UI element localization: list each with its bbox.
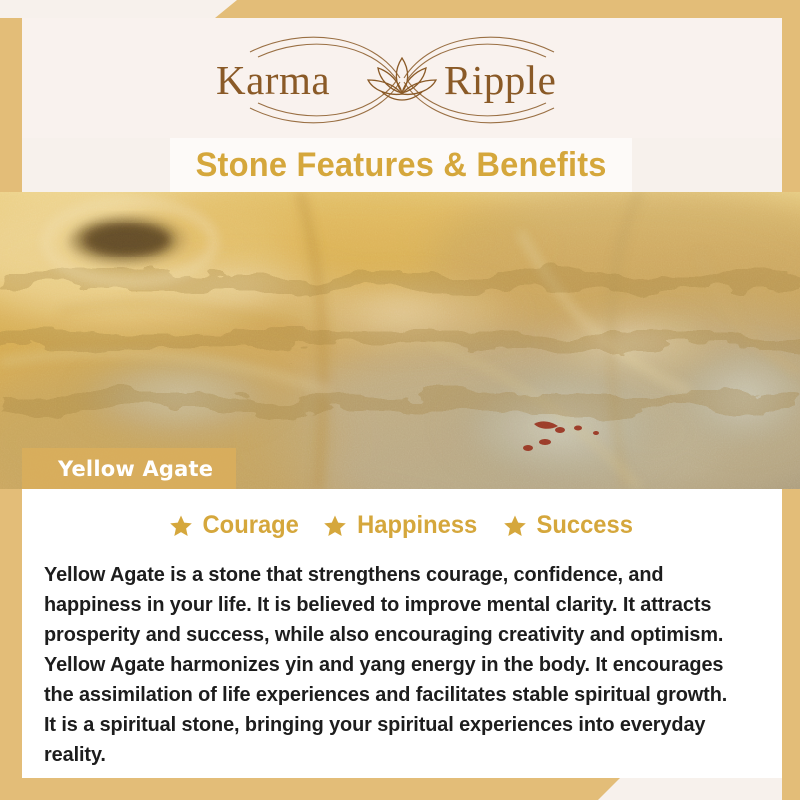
benefit-item: Happiness [323,511,480,540]
stone-photo: Yellow Agate [0,192,800,489]
stone-photo-texture [0,192,800,489]
star-icon [503,514,527,538]
content-panel: Courage Happiness Success Yellow Agate i… [22,489,782,778]
header: Karma Ripple [22,18,782,138]
frame-band-bottom [0,778,620,800]
benefit-item: Success [503,511,635,540]
stone-description: Yellow Agate is a stone that strengthens… [44,560,739,770]
product-infographic: Karma Ripple Stone Features & Benefits [0,0,800,800]
frame-band-top [215,0,800,18]
brand-logo-artwork: Karma Ripple [192,30,612,130]
brand-name-left: Karma [216,57,330,103]
title-card: Stone Features & Benefits [170,138,632,192]
lotus-icon [368,58,436,100]
stone-name-badge: Yellow Agate [22,448,236,489]
benefits-row: Courage Happiness Success [22,511,782,540]
brand-logo: Karma Ripple [192,30,612,130]
benefit-label: Happiness [357,511,477,540]
brand-name-right: Ripple [444,57,556,103]
stone-name-label: Yellow Agate [22,457,213,481]
star-icon [323,514,347,538]
page-title: Stone Features & Benefits [195,146,606,185]
benefit-label: Success [536,511,632,540]
star-icon [169,514,193,538]
benefit-label: Courage [202,511,298,540]
benefit-item: Courage [169,511,301,540]
